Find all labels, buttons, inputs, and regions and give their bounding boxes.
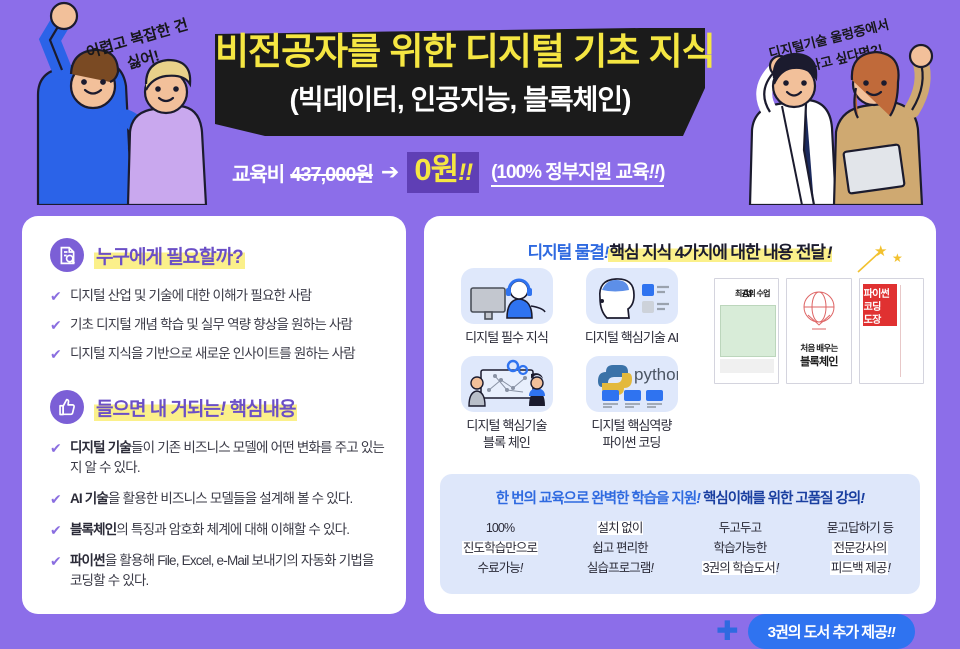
benefits-box: 한 번의 교육으로 완벽한 학습을 지원! 핵심이해를 위한 고품질 강의! 1… [440,474,920,594]
price-label: 교육비 [232,158,284,187]
check-icon: ✔ [50,489,61,509]
benefit-column: 두고두고 학습가능한 3권의 학습도서! [680,518,800,578]
svg-text:★: ★ [874,243,887,260]
bonus-offer-row: ✚ 3권의 도서 추가 제공!! [716,614,915,649]
blockchain-board-icon [461,356,553,412]
course-title-line2: (빅데이터, 인공지능, 블록체인) [215,76,705,124]
bonus-books-badge: 3권의 도서 추가 제공!! [748,614,915,649]
python-icon: python [586,356,678,412]
book-title-line2: 최강의 수업 [735,288,779,299]
topic-card-essential: 디지털 필수 지식 [444,268,569,346]
topic-label: 디지털 핵심기술 AI [569,329,694,346]
desk-worker-icon [461,268,553,324]
section-title: 누구에게 필요할까? [94,242,245,269]
outcome-list: ✔디지털 기술들이 기존 비즈니스 모델에 어떤 변화를 주고 있는지 알 수 … [50,438,386,591]
list-item: ✔디지털 기술들이 기존 비즈니스 모델에 어떤 변화를 주고 있는지 알 수 … [50,438,386,478]
banner-header: 어렵고 복잡한 건 싫어! 비전공자를 위한 디지털 기초 지식 (빅데이터, … [0,0,960,205]
left-content-panel: 누구에게 필요할까? ✔디지털 산업 및 기술에 대한 이해가 필요한 사람 ✔… [22,216,406,614]
check-icon: ✔ [50,520,61,540]
plus-icon: ✚ [716,618,739,645]
course-title-block: 비전공자를 위한 디지털 기초 지식 (빅데이터, 인공지능, 블록체인) [215,28,705,138]
check-icon: ✔ [50,551,61,571]
topic-card-python: python 디지털 핵심역량 파이썬 코딩 [569,356,694,451]
topic-row: 디지털 핵심기술 블록 체인 python [444,356,694,451]
list-item: ✔기초 디지털 개념 학습 및 실무 역량 향상을 원하는 사람 [50,315,386,335]
check-icon: ✔ [50,344,61,364]
topic-card-ai: 디지털 핵심기술 AI [569,268,694,346]
thumbs-up-icon [50,390,84,424]
section-core-content: 들으면 내 거되는! 핵심내용 ✔디지털 기술들이 기존 비즈니스 모델에 어떤… [50,390,386,602]
right-content-panel: 디지털 물결!핵심 지식 4가지에 대한 내용 전달! [424,216,936,614]
topic-label: 디지털 핵심역량 파이썬 코딩 [569,417,694,451]
benefit-column: 설치 없이 쉽고 편리한 실습프로그램! [560,518,680,578]
benefit-column: 묻고답하기 등 전문강사의 피드백 제공! [800,518,920,578]
price-final: 0원!! [407,152,479,193]
list-item: ✔디지털 산업 및 기술에 대한 이해가 필요한 사람 [50,286,386,306]
book-cover-blockchain: 처음 배우는 블록체인 [786,278,851,384]
list-item: ✔AI 기술을 활용한 비즈니스 모델들을 설계해 볼 수 있다. [50,489,386,509]
svg-text:★: ★ [892,251,903,265]
arrow-icon: ➔ [381,159,399,185]
requirement-list: ✔디지털 산업 및 기술에 대한 이해가 필요한 사람 ✔기초 디지털 개념 학… [50,286,386,364]
benefits-columns: 100% 진도학습만으로 수료가능! 설치 없이 쉽고 편리한 실습프로그램! … [440,518,920,578]
book-cover-ai: AI 최강의 수업 [714,278,779,384]
svg-text:python: python [634,365,678,384]
book-cover-python: 파이썬 코딩 도장 [859,278,924,384]
book-title-line3: 도장 [864,311,896,326]
topic-grid: 디지털 필수 지식 디지털 핵심기술 AI [444,268,694,451]
price-note: (100% 정부지원 교육!!) [491,157,664,187]
document-search-icon [50,238,84,272]
section-header: 누구에게 필요할까? [50,238,386,272]
benefit-column: 100% 진도학습만으로 수료가능! [440,518,560,578]
section-who-needs: 누구에게 필요할까? ✔디지털 산업 및 기술에 대한 이해가 필요한 사람 ✔… [50,238,386,373]
price-original: 437,000원 [290,158,373,187]
check-icon: ✔ [50,438,61,458]
section-header: 들으면 내 거되는! 핵심내용 [50,390,386,424]
topic-card-blockchain: 디지털 핵심기술 블록 체인 [444,356,569,451]
check-icon: ✔ [50,286,61,306]
price-row: 교육비 437,000원 ➔ 0원!! (100% 정부지원 교육!!) [232,152,664,192]
topic-row: 디지털 필수 지식 디지털 핵심기술 AI [444,268,694,346]
book-title-line2: 블록체인 [787,353,850,369]
book-covers: AI 최강의 수업 처음 배우는 블록체인 파이썬 코딩 도장 [714,278,924,388]
list-item: ✔디지털 지식을 기반으로 새로운 인사이트를 원하는 사람 [50,344,386,364]
list-item: ✔파이썬을 활용해 File, Excel, e-Mail 보내기의 자동화 기… [50,551,386,591]
section-title: 들으면 내 거되는! 핵심내용 [94,394,297,421]
benefits-heading: 한 번의 교육으로 완벽한 학습을 지원! 핵심이해를 위한 고품질 강의! [440,487,920,508]
brain-ai-icon [586,268,678,324]
promo-banner: 어렵고 복잡한 건 싫어! 비전공자를 위한 디지털 기초 지식 (빅데이터, … [0,0,960,630]
topic-label: 디지털 필수 지식 [444,329,569,346]
list-item: ✔블록체인의 특징과 암호화 체계에 대해 이해할 수 있다. [50,520,386,540]
topic-label: 디지털 핵심기술 블록 체인 [444,417,569,451]
check-icon: ✔ [50,315,61,335]
course-title-line1: 비전공자를 위한 디지털 기초 지식 [215,24,705,80]
